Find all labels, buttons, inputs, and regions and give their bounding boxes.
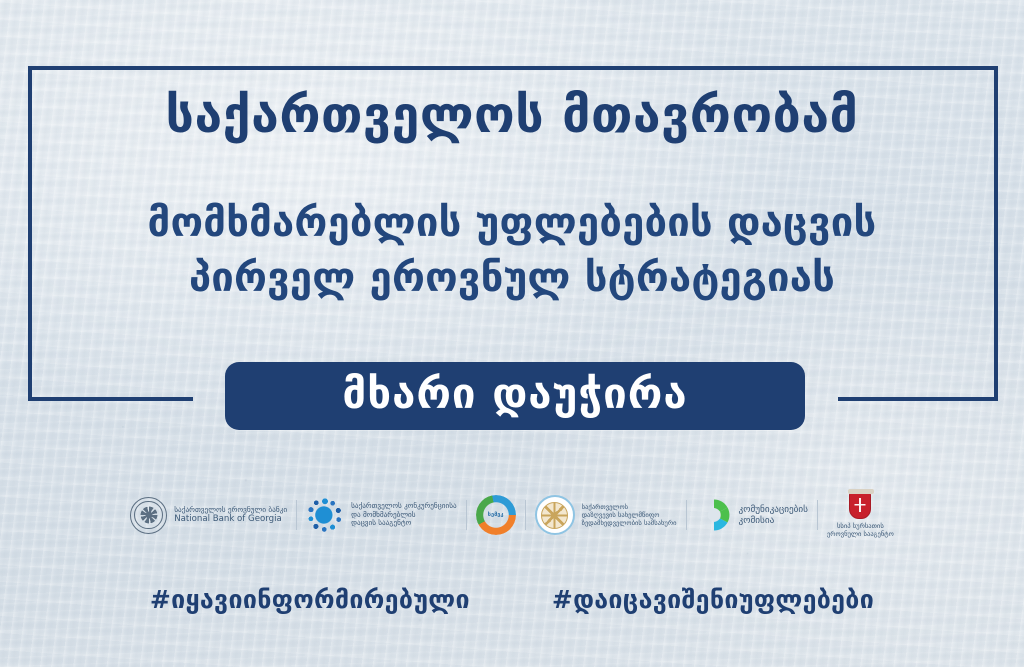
- logo-insurance-state-supervision-service: საქართველოს დაზღვევის სახელმწიფო ზედამხე…: [526, 495, 686, 535]
- logo-line-2: დაზღვევის სახელმწიფო: [582, 511, 677, 519]
- frame-bottom-right-line: [838, 397, 998, 401]
- logo-line-3: დაცვის სააგენტო: [351, 519, 456, 528]
- logo-text-food-agency: სსიპ სურსათის ეროვნული სააგენტო: [827, 522, 894, 538]
- logo-line-1: კომუნიკაციების: [739, 504, 808, 515]
- insurance-seal-icon: [535, 495, 575, 535]
- subtitle-line-2: პირველ ეროვნულ სტრატეგიას: [0, 251, 1024, 306]
- subtitle-line-1: მომხმარებლის უფლებების დაცვის: [0, 196, 1024, 251]
- logo-line-en: National Bank of Georgia: [174, 514, 287, 525]
- logo-line-2: ეროვნული სააგენტო: [827, 530, 894, 538]
- frame-bottom-left-line: [28, 397, 193, 401]
- poster-canvas: საქართველოს მთავრობამ მომხმარებლის უფლებ…: [0, 0, 1024, 667]
- logo-line-1: საქართველოს: [582, 503, 677, 511]
- logo-text-competition-agency: საქართველოს კონკურენციისა და მომხმარებლი…: [351, 502, 456, 529]
- logo-line-3: ზედამხედველობის სამსახური: [582, 519, 677, 527]
- logo-national-bank-of-georgia: საქართველოს ეროვნული ბანკი National Bank…: [121, 497, 296, 534]
- logo-competition-and-consumer-agency: საქართველოს კონკურენციისა და მომხმარებლი…: [297, 496, 465, 534]
- partner-logo-strip: საქართველოს ეროვნული ბანკი National Bank…: [0, 484, 1024, 546]
- logo-national-food-agency: სსიპ სურსათის ეროვნული სააგენტო: [818, 492, 903, 538]
- bank-seal-icon: [130, 497, 167, 534]
- logo-line-2: კომისია: [739, 515, 808, 526]
- tricolor-ring-icon: სემეკ: [476, 495, 516, 535]
- hashtag-protect-rights[interactable]: #დაიცავიშენიუფლებები: [552, 585, 874, 614]
- frame-top-line: [28, 66, 998, 70]
- hashtag-informed[interactable]: #იყავიინფორმირებული: [150, 585, 470, 614]
- logo-semek: სემეკ: [467, 495, 525, 535]
- semek-mark-text: სემეკ: [476, 495, 516, 535]
- logo-text-national-bank: საქართველოს ეროვნული ბანკი National Bank…: [174, 505, 287, 525]
- red-shield-icon: [849, 492, 871, 519]
- page-title: საქართველოს მთავრობამ: [0, 88, 1024, 142]
- logo-line-1: სსიპ სურსათის: [827, 522, 894, 530]
- cta-pill[interactable]: მხარი დაუჭირა: [225, 362, 805, 430]
- cta-label: მხარი დაუჭირა: [342, 373, 687, 419]
- logo-communications-commission: კომუნიკაციების კომისია: [687, 497, 817, 533]
- poster-subtitle: მომხმარებლის უფლებების დაცვის პირველ ერო…: [0, 196, 1024, 306]
- logo-text-communications-commission: კომუნიკაციების კომისია: [739, 504, 808, 527]
- logo-text-insurance-service: საქართველოს დაზღვევის სახელმწიფო ზედამხე…: [582, 503, 677, 528]
- dotted-circle-icon: [306, 496, 344, 534]
- hashtag-row: #იყავიინფორმირებული #დაიცავიშენიუფლებები: [0, 585, 1024, 614]
- comcom-c-icon: [696, 497, 732, 533]
- logo-line-ka: საქართველოს ეროვნული ბანკი: [174, 505, 287, 514]
